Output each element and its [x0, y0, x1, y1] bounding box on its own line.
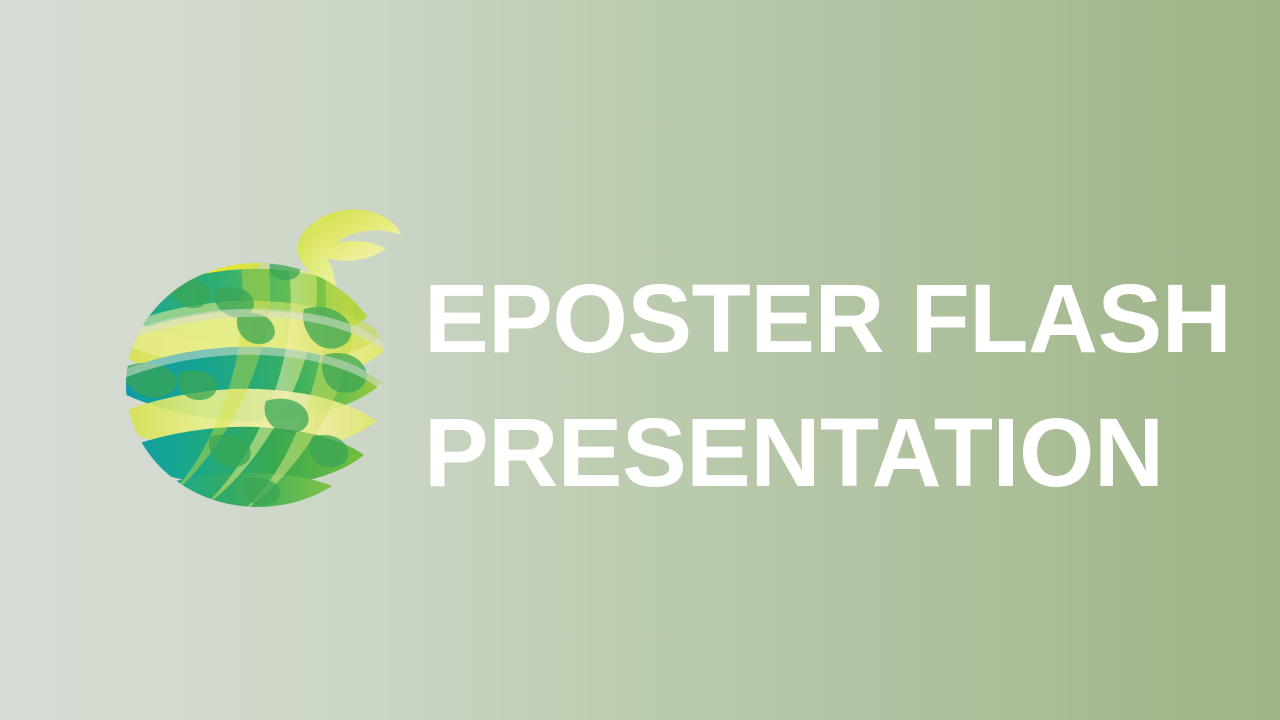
slide-canvas: EPOSTER FLASH PRESENTATION [0, 0, 1280, 720]
title-block: EPOSTER FLASH PRESENTATION [424, 252, 1184, 520]
globe-ribbon-leaf-logo [118, 205, 414, 515]
title-line-1: EPOSTER FLASH [424, 252, 1184, 386]
title-line-2: PRESENTATION [424, 386, 1184, 520]
